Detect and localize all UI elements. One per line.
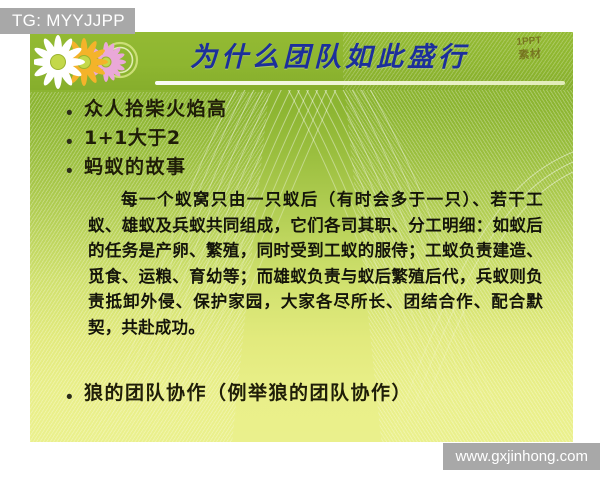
slide-body: • 众人拾柴火焰高 • 1+1大于2 • 蚂蚁的故事 每一个蚁窝只由一只蚁后（有…: [30, 90, 573, 442]
ppt-watermark-logo: 1PPT 素材: [492, 33, 569, 78]
bullet-item-2: • 1+1大于2: [66, 129, 181, 152]
bullet-item-3: • 蚂蚁的故事: [66, 158, 187, 181]
presentation-slide: 为什么团队如此盛行 1PPT 素材 • 众人拾柴火焰高 • 1+1大于2 • 蚂…: [30, 32, 573, 442]
bullet-marker-icon: •: [66, 129, 84, 152]
bullet-item-4: • 狼的团队协作（例举狼的团队协作）: [66, 384, 412, 407]
bullet-label-4: 狼的团队协作（例举狼的团队协作）: [84, 384, 412, 404]
telegram-tag-overlay: TG: MYYJJPP: [0, 8, 135, 34]
bullet-marker-icon: •: [66, 384, 84, 407]
bullet-label-1: 众人拾柴火焰高: [84, 100, 228, 120]
header-underline-rule: [155, 81, 565, 85]
slide-title: 为什么团队如此盛行: [190, 36, 469, 80]
bullet-label-3: 蚂蚁的故事: [84, 158, 187, 178]
slide-header-band: 为什么团队如此盛行 1PPT 素材: [30, 32, 573, 90]
bullet-marker-icon: •: [66, 100, 84, 123]
daisy-flowers-icon: [34, 34, 164, 90]
bullet-label-2: 1+1大于2: [84, 129, 181, 149]
bullet-marker-icon: •: [66, 158, 84, 181]
site-watermark-overlay: www.gxjinhong.com: [443, 443, 600, 470]
ant-story-paragraph: 每一个蚁窝只由一只蚁后（有时会多于一只）、若干工蚁、雄蚁及兵蚁共同组成，它们各司…: [88, 187, 543, 340]
bullet-item-1: • 众人拾柴火焰高: [66, 100, 228, 123]
